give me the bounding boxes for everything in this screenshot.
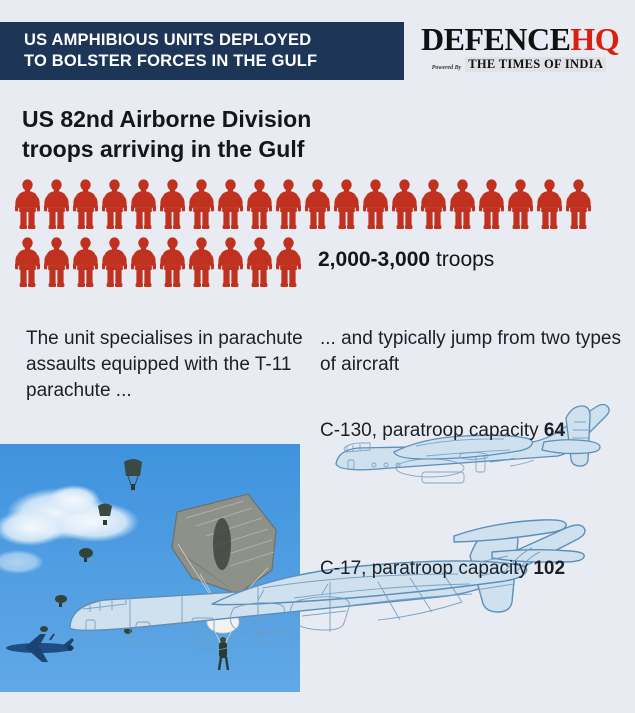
soldier-icon — [420, 178, 447, 230]
soldier-icon — [101, 178, 128, 230]
soldier-icon — [43, 236, 70, 288]
soldier-icon — [188, 236, 215, 288]
c17-capacity-value: 102 — [533, 558, 565, 579]
headline-line-2: TO BOLSTER FORCES IN THE GULF — [24, 51, 404, 72]
soldier-icon — [565, 178, 592, 230]
c17-aircraft-illustration — [62, 496, 622, 711]
page-title-line-1: US 82nd Airborne Division — [22, 104, 442, 134]
soldier-icon — [130, 236, 157, 288]
soldier-icon — [246, 178, 273, 230]
soldier-icon — [362, 178, 389, 230]
c130-capacity-label: C-130, paratroop capacity 64 — [320, 418, 580, 444]
soldier-icon — [217, 178, 244, 230]
soldier-icon — [449, 178, 476, 230]
logo-word-hq: HQ — [570, 21, 619, 57]
c17-capacity-label: C-17, paratroop capacity 102 — [320, 556, 580, 582]
soldier-icon — [188, 178, 215, 230]
troops-pictogram: 2,000-3,000 troops — [14, 178, 624, 288]
soldier-row-top — [14, 178, 624, 230]
headline-line-1: US AMPHIBIOUS UNITS DEPLOYED — [24, 30, 404, 51]
aircraft-intro-note: ... and typically jump from two types of… — [320, 326, 630, 378]
soldier-icon — [246, 236, 273, 288]
soldier-icon — [14, 236, 41, 288]
headline-banner: US AMPHIBIOUS UNITS DEPLOYED TO BOLSTER … — [0, 22, 404, 80]
troops-unit-word: troops — [430, 248, 494, 271]
soldier-icon — [72, 178, 99, 230]
soldier-icon — [43, 178, 70, 230]
c130-label-prefix: C-130, paratroop capacity — [320, 420, 544, 441]
soldier-icon — [72, 236, 99, 288]
soldier-icon — [101, 236, 128, 288]
page-title: US 82nd Airborne Division troops arrivin… — [22, 104, 442, 164]
soldier-icon — [159, 178, 186, 230]
soldier-icon — [159, 236, 186, 288]
soldier-icon — [14, 178, 41, 230]
defence-hq-logo[interactable]: DEFENCEHQ Powered By THE TIMES OF INDIA — [421, 22, 617, 76]
troops-count-label: 2,000-3,000 troops — [318, 248, 494, 276]
logo-word-defence: DEFENCE — [421, 21, 570, 57]
soldier-icon — [275, 236, 302, 288]
c17-label-prefix: C-17, paratroop capacity — [320, 558, 533, 579]
logo-subline: Powered By THE TIMES OF INDIA — [421, 57, 617, 72]
soldier-icon — [507, 178, 534, 230]
soldier-icon — [275, 178, 302, 230]
c130-capacity-value: 64 — [544, 420, 565, 441]
logo-wordmark: DEFENCEHQ — [421, 22, 617, 56]
page-title-line-2: troops arriving in the Gulf — [22, 134, 442, 164]
soldier-icon — [130, 178, 157, 230]
soldier-row-bottom: 2,000-3,000 troops — [14, 236, 624, 288]
soldier-icon — [391, 178, 418, 230]
soldier-icon — [333, 178, 360, 230]
troops-count-value: 2,000-3,000 — [318, 248, 430, 271]
soldier-icon — [478, 178, 505, 230]
soldier-icon — [217, 236, 244, 288]
soldier-icon — [304, 178, 331, 230]
soldier-icon — [536, 178, 563, 230]
logo-publisher-text: THE TIMES OF INDIA — [465, 57, 606, 72]
parachute-note: The unit specialises in parachute assaul… — [26, 326, 306, 404]
logo-powered-by-text: Powered By — [432, 65, 462, 72]
